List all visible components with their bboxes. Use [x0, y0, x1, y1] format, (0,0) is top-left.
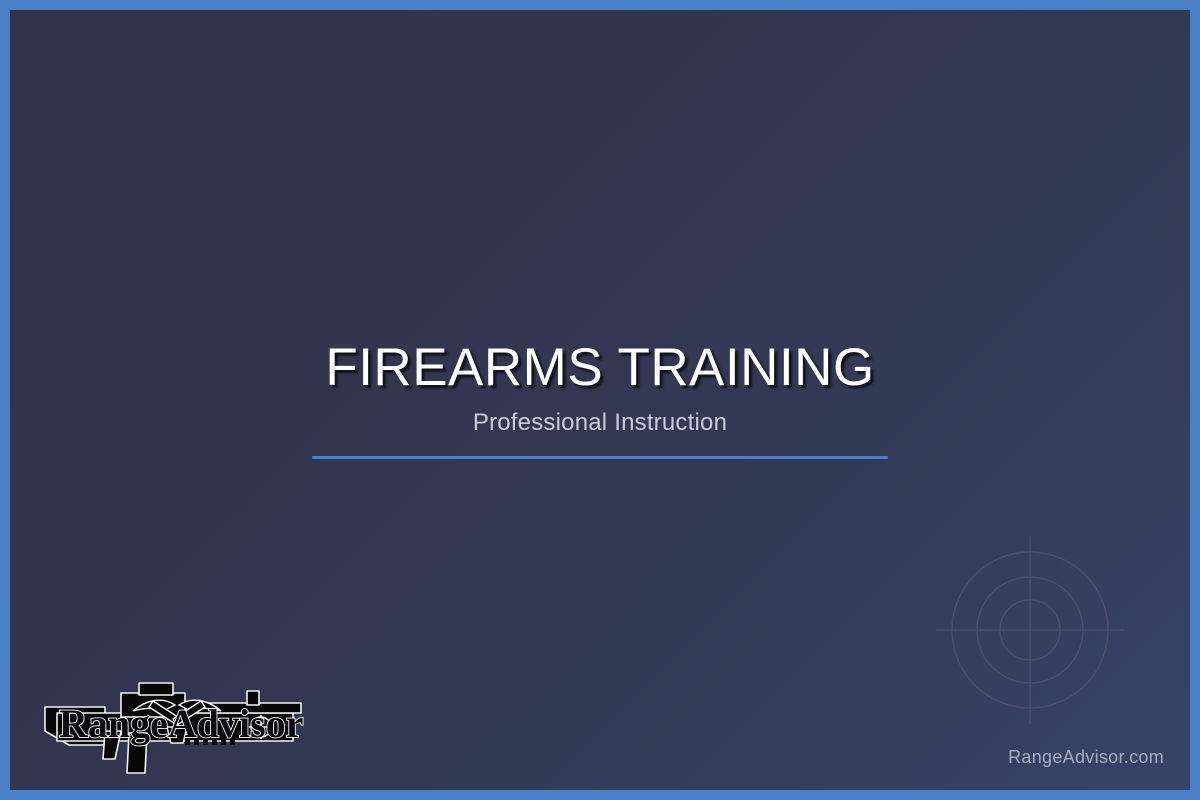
- presentation-slide: FIREARMS TRAINING Professional Instructi…: [0, 0, 1200, 800]
- footer-url: RangeAdvisor.com: [1008, 747, 1164, 768]
- logo-wordmark: RangeAdvisor: [59, 701, 303, 746]
- slide-canvas: FIREARMS TRAINING Professional Instructi…: [10, 10, 1190, 790]
- rangeadvisor-logo: .blk { fill:#070708; stroke:#f2f2f5; str…: [35, 673, 320, 777]
- crosshair-target-icon: [920, 520, 1140, 740]
- accent-divider: [312, 456, 888, 459]
- page-subtitle: Professional Instruction: [10, 409, 1190, 437]
- page-title: FIREARMS TRAINING: [10, 340, 1190, 396]
- title-block: FIREARMS TRAINING Professional Instructi…: [10, 340, 1190, 459]
